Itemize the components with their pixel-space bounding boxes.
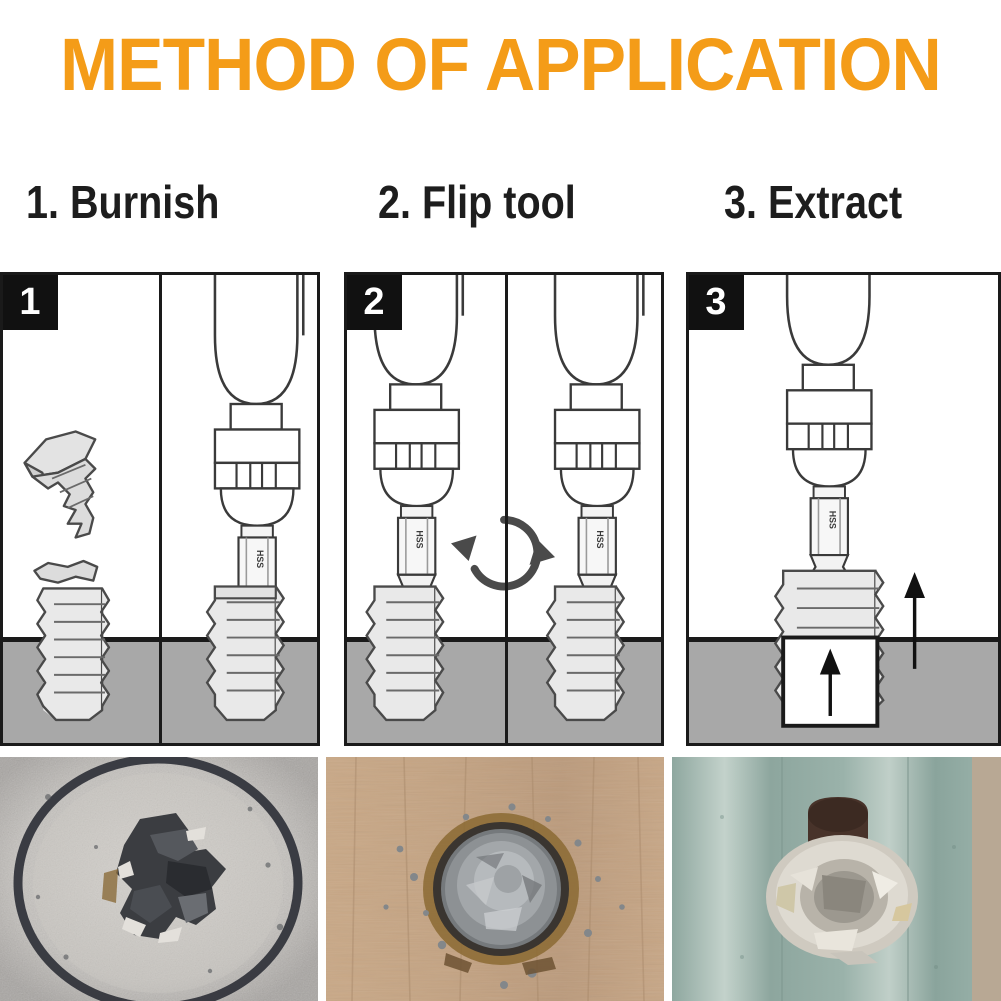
extract-direction-arrow-outer: [907, 577, 923, 669]
step-2-heading: 2. Flip tool: [378, 175, 576, 229]
step-1-badge: 1: [2, 274, 58, 330]
screw-head: [441, 829, 561, 949]
step-1-diagram-panel: 1: [0, 272, 320, 746]
photo-row: [0, 757, 1001, 1001]
bit-label-hss-2a: HSS: [415, 530, 425, 548]
drill-assembly-2-left: HSS: [367, 272, 463, 720]
page-title: METHOD OF APPLICATION: [30, 28, 971, 102]
step-headings: 1. Burnish 2. Flip tool 3. Extract: [0, 175, 1001, 237]
panel-1-sub-divider: [159, 275, 162, 743]
step-3-heading: 3. Extract: [724, 175, 902, 229]
step-2-diagram-panel: 2 H: [344, 272, 664, 746]
photo-screw-head-on-metal-panel: [672, 757, 1001, 1001]
step-3-scene: HSS: [689, 275, 998, 743]
photo-screw-in-wood-with-shavings: [326, 757, 664, 1001]
flip-rotate-icon: [451, 520, 555, 587]
step-2-scene: HSS: [347, 275, 661, 743]
panel-2-sub-divider: [505, 275, 508, 743]
drill-assembly-1: HSS: [207, 272, 303, 720]
diagram-panel-row: 1: [0, 272, 1001, 746]
step-3-diagram-panel: 3 HSS: [686, 272, 1001, 746]
drill-assembly-2-right: HSS: [547, 272, 643, 720]
photo-stripped-screw-concrete: [0, 757, 318, 1001]
step-3-badge: 3: [688, 274, 744, 330]
step-2-badge: 2: [346, 274, 402, 330]
bit-label-hss-1: HSS: [255, 550, 265, 568]
screw-left: [37, 588, 109, 719]
bit-label-hss-2b: HSS: [595, 530, 605, 548]
step-1-heading: 1. Burnish: [26, 175, 219, 229]
method-of-application-infographic: METHOD OF APPLICATION 1. Burnish 2. Flip…: [0, 0, 1001, 1001]
bit-label-hss-3: HSS: [827, 511, 837, 529]
stripped-screw-head-fragment: [25, 431, 98, 582]
